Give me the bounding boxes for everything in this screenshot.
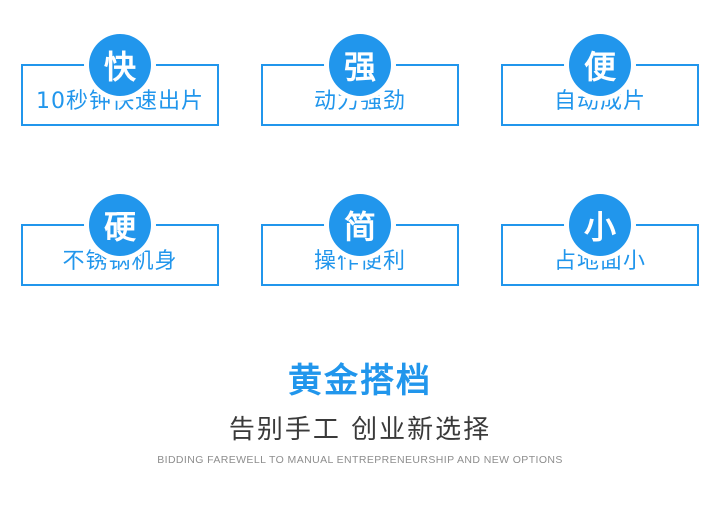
feature-box: 强 动力强劲 — [261, 64, 459, 126]
feature-item: 强 动力强劲 — [240, 22, 480, 126]
feature-badge: 强 — [329, 34, 391, 96]
feature-box: 便 自动成片 — [501, 64, 699, 126]
feature-badge: 简 — [329, 194, 391, 256]
feature-box: 小 占地面小 — [501, 224, 699, 286]
feature-item: 便 自动成片 — [480, 22, 720, 126]
feature-badge: 小 — [569, 194, 631, 256]
footer-block: 黄金搭档 告别手工 创业新选择 BIDDING FAREWELL TO MANU… — [0, 362, 720, 466]
feature-item: 快 10秒钟快速出片 — [0, 22, 240, 126]
feature-box: 硬 不锈钢机身 — [21, 224, 219, 286]
feature-badge: 硬 — [89, 194, 151, 256]
feature-badge: 便 — [569, 34, 631, 96]
feature-box: 简 操作便利 — [261, 224, 459, 286]
feature-item: 硬 不锈钢机身 — [0, 182, 240, 286]
footer-title: 黄金搭档 — [0, 362, 720, 401]
feature-grid: 快 10秒钟快速出片 强 动力强劲 便 自动成片 硬 不锈钢机身 简 — [0, 22, 720, 286]
feature-item: 简 操作便利 — [240, 182, 480, 286]
promo-page: 快 10秒钟快速出片 强 动力强劲 便 自动成片 硬 不锈钢机身 简 — [0, 0, 720, 512]
footer-subtitle: 告别手工 创业新选择 — [0, 415, 720, 446]
feature-badge: 快 — [89, 34, 151, 96]
footer-english-caption: BIDDING FAREWELL TO MANUAL ENTREPRENEURS… — [0, 454, 720, 466]
feature-box: 快 10秒钟快速出片 — [21, 64, 219, 126]
feature-item: 小 占地面小 — [480, 182, 720, 286]
